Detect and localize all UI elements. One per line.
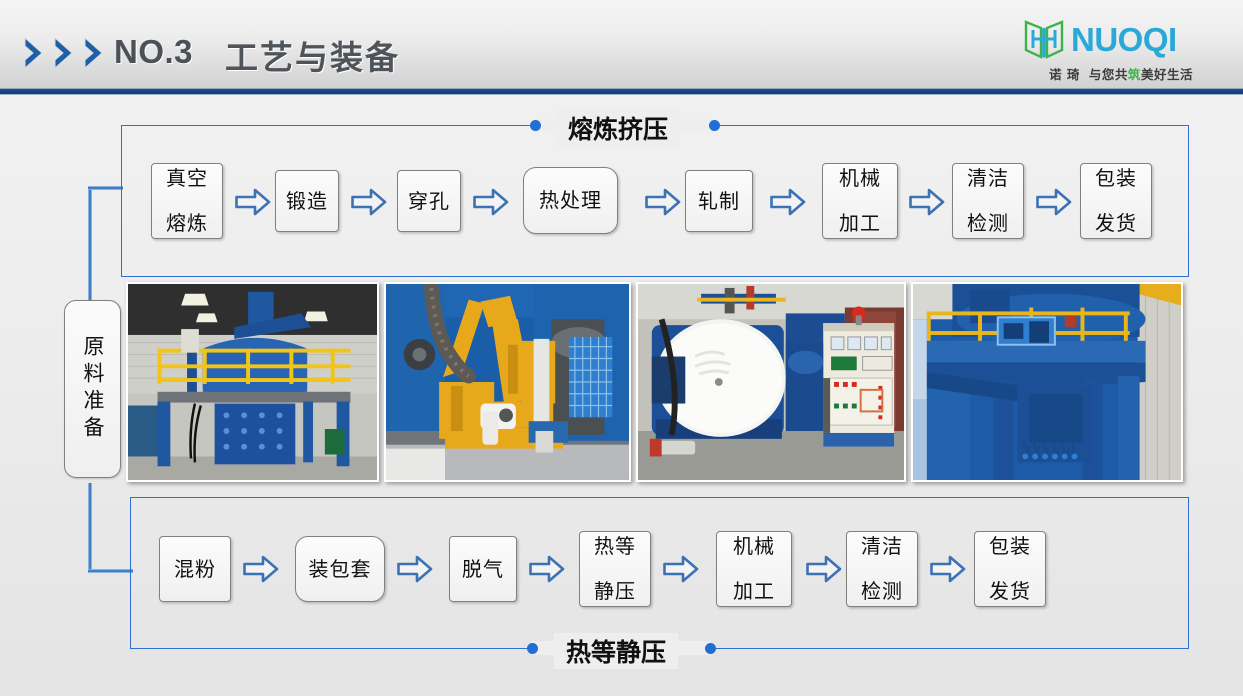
- flow-arrow-right-icon: [806, 554, 842, 584]
- vacuum-heat-treatment-furnace-photo: [636, 282, 906, 482]
- step-label: 穿孔: [408, 190, 450, 212]
- step-label: 机械加工: [839, 167, 881, 234]
- raw-material-label: 原料准备: [82, 335, 103, 443]
- flow-arrow-right-icon: [663, 554, 699, 584]
- step-node-machining-top[interactable]: 机械加工: [822, 163, 898, 239]
- step-node-vacuum-melting[interactable]: 真空熔炼: [151, 163, 223, 239]
- nuoqi-open-book-icon: [1023, 17, 1065, 61]
- chevron-right-icon: [82, 36, 110, 70]
- flow-arrow-right-icon: [645, 187, 681, 217]
- header-divider: [0, 88, 1243, 95]
- step-node-packing-shipping-bottom[interactable]: 包装发货: [974, 531, 1046, 607]
- extrusion-press-photo: [384, 282, 631, 482]
- step-label: 装包套: [309, 558, 372, 580]
- step-node-machining-bottom[interactable]: 机械加工: [716, 531, 792, 607]
- connector-raw-to-bottom-horizontal: [88, 569, 133, 573]
- raw-material-node[interactable]: 原料准备: [64, 300, 121, 478]
- logo-tagline-part2: 与您共: [1089, 67, 1128, 82]
- flow-arrow-right-icon: [473, 187, 509, 217]
- double-chevron-right-icon: [22, 36, 110, 70]
- step-label: 机械加工: [733, 535, 775, 602]
- page-title: 工艺与装备: [225, 31, 400, 79]
- flow-arrow-right-icon: [770, 187, 806, 217]
- flow-arrow-right-icon: [930, 554, 966, 584]
- step-label: 包装发货: [989, 535, 1031, 602]
- step-node-piercing[interactable]: 穿孔: [397, 170, 461, 232]
- slide-canvas: NO.3 工艺与装备 NUOQI 诺 琦与您共筑美好生活: [0, 0, 1243, 696]
- hot-isostatic-press-flow-title: 热等静压: [554, 633, 678, 669]
- step-label: 真空熔炼: [166, 167, 208, 234]
- step-node-hot-isostatic-pressing[interactable]: 热等静压: [579, 531, 651, 607]
- page-title-number: NO.3: [114, 33, 193, 71]
- step-label: 包装发货: [1095, 167, 1137, 234]
- frame-title-knob-right-bottom: [705, 643, 716, 654]
- flow-arrow-right-icon: [243, 554, 279, 584]
- flow-arrow-right-icon: [909, 187, 945, 217]
- chevron-right-icon: [52, 36, 80, 70]
- step-node-forging[interactable]: 锻造: [275, 170, 339, 232]
- step-node-packing-shipping-top[interactable]: 包装发货: [1080, 163, 1152, 239]
- chevron-right-icon: [22, 36, 50, 70]
- flow-arrow-right-icon: [1036, 187, 1072, 217]
- vacuum-melting-furnace-photo: [126, 282, 379, 482]
- step-label: 清洁检测: [967, 167, 1009, 234]
- step-label: 热等静压: [594, 535, 636, 602]
- melt-extrude-flow-title: 熔炼挤压: [556, 110, 680, 146]
- step-label: 清洁检测: [861, 535, 903, 602]
- frame-title-knob-left: [530, 120, 541, 131]
- step-node-rolling[interactable]: 轧制: [685, 170, 753, 232]
- flow-arrow-right-icon: [235, 187, 271, 217]
- step-label: 混粉: [174, 558, 216, 580]
- step-label: 热处理: [539, 189, 602, 211]
- step-label: 轧制: [698, 190, 740, 212]
- logo-wordmark: NUOQI: [1071, 23, 1177, 56]
- hot-isostatic-press-line-photo: [911, 282, 1183, 482]
- connector-raw-to-bottom-vertical: [88, 483, 92, 573]
- step-node-cleaning-inspection-bottom[interactable]: 清洁检测: [846, 531, 918, 607]
- slide-header: NO.3 工艺与装备 NUOQI 诺 琦与您共筑美好生活: [0, 0, 1243, 88]
- logo-tagline-highlight: 筑: [1128, 67, 1141, 82]
- frame-title-knob-right: [709, 120, 720, 131]
- logo-tagline-part3: 美好生活: [1141, 67, 1193, 82]
- step-node-heat-treatment[interactable]: 热处理: [523, 167, 618, 234]
- logo-tagline-part1: 诺 琦: [1049, 67, 1080, 82]
- connector-raw-to-top-vertical: [88, 186, 92, 304]
- step-label: 脱气: [462, 558, 504, 580]
- logo-tagline: 诺 琦与您共筑美好生活: [1023, 64, 1219, 83]
- step-label: 锻造: [286, 190, 328, 212]
- connector-raw-to-top-horizontal: [88, 186, 123, 190]
- flow-arrow-right-icon: [529, 554, 565, 584]
- flow-arrow-right-icon: [397, 554, 433, 584]
- frame-title-knob-left-bottom: [527, 643, 538, 654]
- step-node-degassing[interactable]: 脱气: [449, 536, 517, 602]
- step-node-cleaning-inspection-top[interactable]: 清洁检测: [952, 163, 1024, 239]
- company-logo: NUOQI 诺 琦与您共筑美好生活: [1023, 16, 1223, 82]
- step-node-powder-mixing[interactable]: 混粉: [159, 536, 231, 602]
- step-node-canning[interactable]: 装包套: [295, 536, 385, 602]
- flow-arrow-right-icon: [351, 187, 387, 217]
